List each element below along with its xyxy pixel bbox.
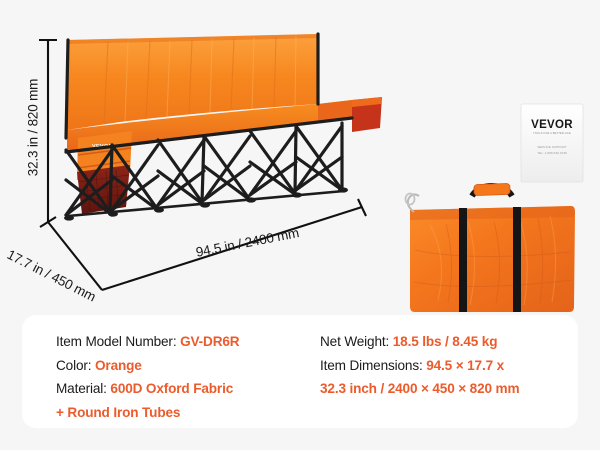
infographic-canvas: VEVOR	[0, 0, 600, 450]
spec-item-model-number: Item Model Number: GV-DR6R	[56, 330, 239, 354]
bag-strap-right	[513, 207, 521, 312]
vevor-manual-card: VEVOR TOOLS FOR A BETTER LIFE SERVICE SU…	[521, 104, 583, 182]
manual-support-line-2: TEL: 1-888-539-1538	[537, 151, 567, 155]
spec-label: Material:	[56, 381, 110, 396]
bag-zipper-pull	[406, 194, 420, 213]
spec-label: Color:	[56, 358, 95, 373]
spec-label: Item Model Number:	[56, 334, 180, 349]
vevor-logo-text: VEVOR	[531, 119, 573, 131]
bag-handle-grip	[474, 183, 510, 195]
carry-bag	[406, 183, 576, 312]
manual-support-line-1: SERVICE SUPPORT	[537, 145, 566, 149]
spec-value: 18.5 lbs / 8.45 kg	[393, 334, 498, 349]
spec-value: Orange	[95, 358, 142, 373]
spec-label: Net Weight:	[320, 334, 393, 349]
specifications-card: Item Model Number: GV-DR6R Color: Orange…	[22, 315, 578, 428]
spec-value: 600D Oxford Fabric	[110, 381, 233, 396]
spec-value: + Round Iron Tubes	[56, 405, 180, 420]
spec-value: 94.5 × 17.7 x	[426, 358, 504, 373]
spec-color: Color: Orange	[56, 354, 239, 378]
spec-column-right: Net Weight: 18.5 lbs / 8.45 kg Item Dime…	[320, 330, 519, 401]
spec-value: 32.3 inch / 2400 × 450 × 820 mm	[320, 381, 519, 396]
spec-net-weight: Net Weight: 18.5 lbs / 8.45 kg	[320, 330, 519, 354]
height-dimension-label: 32.3 in / 820 mm	[26, 48, 41, 208]
spec-item-dimensions: Item Dimensions: 94.5 × 17.7 x	[320, 354, 519, 378]
spec-label: Item Dimensions:	[320, 358, 426, 373]
spec-material: Material: 600D Oxford Fabric	[56, 377, 239, 401]
spec-value: GV-DR6R	[180, 334, 239, 349]
bag-strap-left	[459, 208, 467, 312]
spec-column-left: Item Model Number: GV-DR6R Color: Orange…	[56, 330, 239, 424]
vevor-tagline: TOOLS FOR A BETTER LIFE	[533, 131, 571, 135]
folding-bench: VEVOR	[64, 34, 382, 221]
spec-material-continued: + Round Iron Tubes	[56, 401, 239, 425]
product-illustration: VEVOR	[0, 0, 600, 320]
bag-body	[410, 206, 575, 312]
spec-item-dimensions-continued: 32.3 inch / 2400 × 450 × 820 mm	[320, 377, 519, 401]
